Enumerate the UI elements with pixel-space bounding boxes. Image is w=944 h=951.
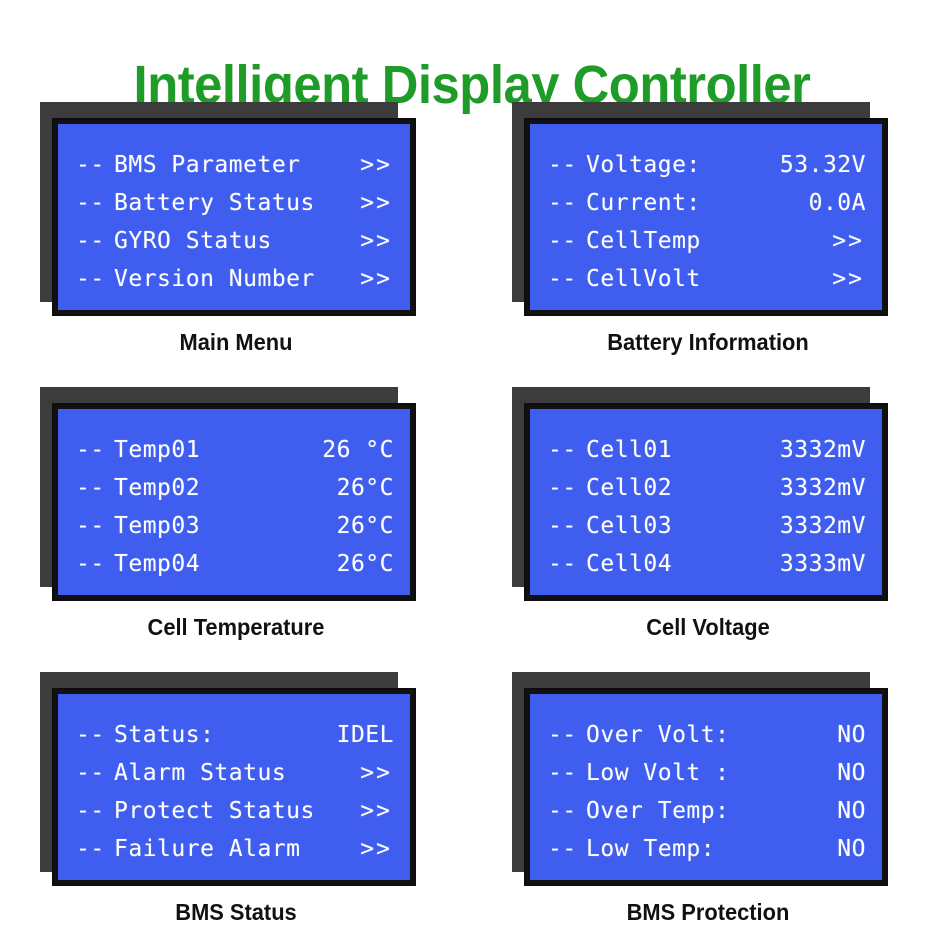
chevron-right-icon[interactable]: >> [826, 260, 866, 298]
dash-bullet-icon: -- [548, 507, 586, 545]
lcd-item-label: Cell03 [586, 507, 774, 545]
lcd-item-label: BMS Parameter [114, 146, 354, 184]
lcd-item-label: Cell02 [586, 469, 774, 507]
dash-bullet-icon: -- [76, 260, 114, 298]
lcd-item-value: NO [831, 792, 866, 830]
panel-caption-bms-status: BMS Status [12, 898, 460, 926]
panel-caption-main-menu: Main Menu [12, 328, 460, 356]
dash-bullet-icon: -- [76, 545, 114, 583]
lcd-item-value: NO [831, 716, 866, 754]
panel-battery-information: --Voltage:53.32V--Current:0.0A--CellTemp… [472, 96, 944, 381]
lcd-item-label: Over Volt: [586, 716, 831, 754]
lcd-screen-bms-protection: --Over Volt:NO--Low Volt :NO--Over Temp:… [530, 694, 882, 880]
lcd-screen-battery-information: --Voltage:53.32V--Current:0.0A--CellTemp… [530, 124, 882, 310]
dash-bullet-icon: -- [548, 222, 586, 260]
dash-bullet-icon: -- [76, 830, 114, 868]
lcd-device-cell-voltage: --Cell013332mV--Cell023332mV--Cell033332… [512, 387, 892, 605]
lcd-menu-item[interactable]: --Status:IDEL [76, 716, 394, 754]
lcd-item-value: 3332mV [774, 431, 866, 469]
device-bezel: --Over Volt:NO--Low Volt :NO--Over Temp:… [524, 688, 888, 886]
chevron-right-icon[interactable]: >> [354, 184, 394, 222]
lcd-menu-item[interactable]: --Cell023332mV [548, 469, 866, 507]
lcd-item-value: 26°C [331, 507, 394, 545]
lcd-menu-item[interactable]: --BMS Parameter>> [76, 146, 394, 184]
lcd-item-label: Battery Status [114, 184, 354, 222]
lcd-device-bms-status: --Status:IDEL--Alarm Status>>--Protect S… [40, 672, 420, 890]
lcd-menu-item[interactable]: --Failure Alarm>> [76, 830, 394, 868]
lcd-menu-item[interactable]: --Alarm Status>> [76, 754, 394, 792]
device-bezel: --Cell013332mV--Cell023332mV--Cell033332… [524, 403, 888, 601]
lcd-item-label: GYRO Status [114, 222, 354, 260]
lcd-item-label: Voltage: [586, 146, 774, 184]
lcd-item-label: CellTemp [586, 222, 826, 260]
lcd-device-cell-temperature: --Temp0126 °C--Temp0226°C--Temp0326°C--T… [40, 387, 420, 605]
lcd-menu-item[interactable]: --CellVolt>> [548, 260, 866, 298]
device-bezel: --BMS Parameter>>--Battery Status>>--GYR… [52, 118, 416, 316]
lcd-item-value: 26°C [331, 469, 394, 507]
lcd-item-label: Over Temp: [586, 792, 831, 830]
lcd-item-value: 3332mV [774, 507, 866, 545]
lcd-item-label: Cell01 [586, 431, 774, 469]
lcd-item-value: NO [831, 830, 866, 868]
lcd-item-label: Current: [586, 184, 803, 222]
lcd-menu-item[interactable]: --Temp0426°C [76, 545, 394, 583]
lcd-menu-item[interactable]: --Temp0126 °C [76, 431, 394, 469]
dash-bullet-icon: -- [76, 507, 114, 545]
dash-bullet-icon: -- [76, 792, 114, 830]
lcd-item-label: Low Volt : [586, 754, 831, 792]
lcd-item-label: Temp02 [114, 469, 331, 507]
chevron-right-icon[interactable]: >> [826, 222, 866, 260]
lcd-item-label: Protect Status [114, 792, 354, 830]
lcd-item-value: 3332mV [774, 469, 866, 507]
lcd-item-value: IDEL [331, 716, 394, 754]
panel-caption-bms-protection: BMS Protection [484, 898, 932, 926]
chevron-right-icon[interactable]: >> [354, 792, 394, 830]
lcd-screen-bms-status: --Status:IDEL--Alarm Status>>--Protect S… [58, 694, 410, 880]
panel-main-menu: --BMS Parameter>>--Battery Status>>--GYR… [0, 96, 472, 381]
lcd-menu-item[interactable]: --Cell043333mV [548, 545, 866, 583]
lcd-menu-item[interactable]: --Current:0.0A [548, 184, 866, 222]
lcd-menu-item[interactable]: --Voltage:53.32V [548, 146, 866, 184]
device-bezel: --Temp0126 °C--Temp0226°C--Temp0326°C--T… [52, 403, 416, 601]
lcd-menu-item[interactable]: --Low Volt :NO [548, 754, 866, 792]
lcd-menu-item[interactable]: --Over Volt:NO [548, 716, 866, 754]
dash-bullet-icon: -- [76, 754, 114, 792]
lcd-item-label: Temp04 [114, 545, 331, 583]
device-bezel: --Status:IDEL--Alarm Status>>--Protect S… [52, 688, 416, 886]
lcd-menu-item[interactable]: --CellTemp>> [548, 222, 866, 260]
lcd-menu-item[interactable]: --Version Number>> [76, 260, 394, 298]
dash-bullet-icon: -- [548, 716, 586, 754]
dash-bullet-icon: -- [548, 260, 586, 298]
lcd-menu-item[interactable]: --Cell033332mV [548, 507, 866, 545]
panel-caption-cell-voltage: Cell Voltage [484, 613, 932, 641]
lcd-menu-item[interactable]: --Battery Status>> [76, 184, 394, 222]
dash-bullet-icon: -- [548, 469, 586, 507]
lcd-item-value: 26 °C [316, 431, 394, 469]
chevron-right-icon[interactable]: >> [354, 830, 394, 868]
dash-bullet-icon: -- [76, 469, 114, 507]
lcd-menu-item[interactable]: --Temp0226°C [76, 469, 394, 507]
lcd-screen-cell-temperature: --Temp0126 °C--Temp0226°C--Temp0326°C--T… [58, 409, 410, 595]
display-panel-grid: --BMS Parameter>>--Battery Status>>--GYR… [0, 96, 944, 951]
device-bezel: --Voltage:53.32V--Current:0.0A--CellTemp… [524, 118, 888, 316]
chevron-right-icon[interactable]: >> [354, 260, 394, 298]
lcd-item-label: Low Temp: [586, 830, 831, 868]
lcd-device-main-menu: --BMS Parameter>>--Battery Status>>--GYR… [40, 102, 420, 320]
dash-bullet-icon: -- [548, 792, 586, 830]
dash-bullet-icon: -- [548, 184, 586, 222]
dash-bullet-icon: -- [548, 146, 586, 184]
lcd-screen-cell-voltage: --Cell013332mV--Cell023332mV--Cell033332… [530, 409, 882, 595]
chevron-right-icon[interactable]: >> [354, 146, 394, 184]
panel-bms-status: --Status:IDEL--Alarm Status>>--Protect S… [0, 666, 472, 951]
chevron-right-icon[interactable]: >> [354, 222, 394, 260]
dash-bullet-icon: -- [548, 830, 586, 868]
panel-cell-temperature: --Temp0126 °C--Temp0226°C--Temp0326°C--T… [0, 381, 472, 666]
panel-caption-battery-information: Battery Information [484, 328, 932, 356]
panel-cell-voltage: --Cell013332mV--Cell023332mV--Cell033332… [472, 381, 944, 666]
lcd-item-value: 53.32V [774, 146, 866, 184]
panel-bms-protection: --Over Volt:NO--Low Volt :NO--Over Temp:… [472, 666, 944, 951]
lcd-item-value: NO [831, 754, 866, 792]
lcd-screen-main-menu: --BMS Parameter>>--Battery Status>>--GYR… [58, 124, 410, 310]
dash-bullet-icon: -- [548, 545, 586, 583]
lcd-item-label: Failure Alarm [114, 830, 354, 868]
lcd-item-label: Temp03 [114, 507, 331, 545]
lcd-item-value: 0.0A [803, 184, 866, 222]
lcd-item-label: Cell04 [586, 545, 774, 583]
dash-bullet-icon: -- [76, 146, 114, 184]
lcd-item-label: CellVolt [586, 260, 826, 298]
panel-caption-cell-temperature: Cell Temperature [12, 613, 460, 641]
lcd-item-label: Temp01 [114, 431, 316, 469]
lcd-item-label: Version Number [114, 260, 354, 298]
dash-bullet-icon: -- [76, 716, 114, 754]
dash-bullet-icon: -- [76, 184, 114, 222]
dash-bullet-icon: -- [548, 754, 586, 792]
lcd-item-label: Status: [114, 716, 331, 754]
lcd-menu-item[interactable]: --Over Temp:NO [548, 792, 866, 830]
lcd-menu-item[interactable]: --Low Temp:NO [548, 830, 866, 868]
lcd-menu-item[interactable]: --Cell013332mV [548, 431, 866, 469]
lcd-device-battery-information: --Voltage:53.32V--Current:0.0A--CellTemp… [512, 102, 892, 320]
dash-bullet-icon: -- [76, 431, 114, 469]
dash-bullet-icon: -- [76, 222, 114, 260]
lcd-item-value: 3333mV [774, 545, 866, 583]
lcd-menu-item[interactable]: --GYRO Status>> [76, 222, 394, 260]
chevron-right-icon[interactable]: >> [354, 754, 394, 792]
lcd-menu-item[interactable]: --Protect Status>> [76, 792, 394, 830]
dash-bullet-icon: -- [548, 431, 586, 469]
lcd-menu-item[interactable]: --Temp0326°C [76, 507, 394, 545]
lcd-item-value: 26°C [331, 545, 394, 583]
lcd-item-label: Alarm Status [114, 754, 354, 792]
lcd-device-bms-protection: --Over Volt:NO--Low Volt :NO--Over Temp:… [512, 672, 892, 890]
